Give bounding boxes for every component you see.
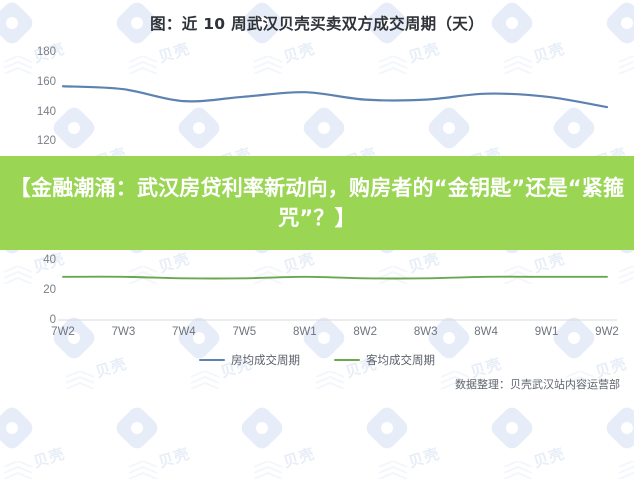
x-axis-tick-label: 8W1 bbox=[293, 326, 317, 338]
x-axis-tick-label: 8W3 bbox=[414, 326, 438, 338]
x-axis-tick-label: 8W4 bbox=[474, 326, 498, 338]
chart-legend: 房均成交周期客均成交周期 bbox=[0, 352, 634, 368]
x-axis-tick-label: 9W1 bbox=[535, 326, 559, 338]
legend-line-icon bbox=[334, 359, 360, 362]
x-axis-tick-label: 7W2 bbox=[51, 326, 75, 338]
watermark-chevron-icon bbox=[618, 461, 634, 479]
x-axis-tick-label: 7W3 bbox=[112, 326, 136, 338]
legend-line-icon bbox=[199, 359, 225, 362]
watermark-shape bbox=[238, 404, 286, 452]
watermark-shape bbox=[603, 404, 634, 452]
watermark-text: 贝壳 bbox=[531, 443, 568, 473]
watermark-chevron-icon bbox=[378, 461, 408, 479]
x-axis: 7W27W37W47W58W18W28W38W49W19W2 bbox=[0, 326, 634, 346]
series-line-1 bbox=[63, 277, 607, 279]
watermark-shape bbox=[488, 404, 536, 452]
watermark-shape bbox=[363, 404, 411, 452]
watermark-text: 贝壳 bbox=[281, 443, 318, 473]
source-attribution: 数据整理：贝壳武汉站内容运营部 bbox=[455, 376, 620, 392]
watermark-chevron-icon bbox=[503, 461, 533, 479]
watermark-shape bbox=[113, 404, 161, 452]
x-axis-tick-label: 9W2 bbox=[595, 326, 619, 338]
watermark-text: 贝壳 bbox=[406, 443, 443, 473]
watermark-text: 贝壳 bbox=[31, 443, 68, 473]
legend-item-label: 房均成交周期 bbox=[231, 352, 300, 368]
x-axis-tick-label: 8W2 bbox=[353, 326, 377, 338]
watermark-chevron-icon bbox=[3, 461, 33, 479]
x-axis-tick-label: 7W4 bbox=[172, 326, 196, 338]
legend-item[interactable]: 房均成交周期 bbox=[199, 352, 300, 368]
legend-item-label: 客均成交周期 bbox=[366, 352, 435, 368]
x-axis-tick-label: 7W5 bbox=[233, 326, 257, 338]
watermark-text: 贝壳 bbox=[156, 443, 193, 473]
series-line-0 bbox=[63, 86, 607, 107]
overlay-banner: 【金融潮涌：武汉房贷利率新动向，购房者的“金钥匙”还是“紧箍咒”？】 bbox=[0, 156, 634, 250]
overlay-banner-text: 【金融潮涌：武汉房贷利率新动向，购房者的“金钥匙”还是“紧箍咒”？】 bbox=[0, 173, 634, 234]
watermark-chevron-icon bbox=[128, 461, 158, 479]
watermark-shape bbox=[0, 404, 36, 452]
legend-item[interactable]: 客均成交周期 bbox=[334, 352, 435, 368]
watermark-chevron-icon bbox=[253, 461, 283, 479]
